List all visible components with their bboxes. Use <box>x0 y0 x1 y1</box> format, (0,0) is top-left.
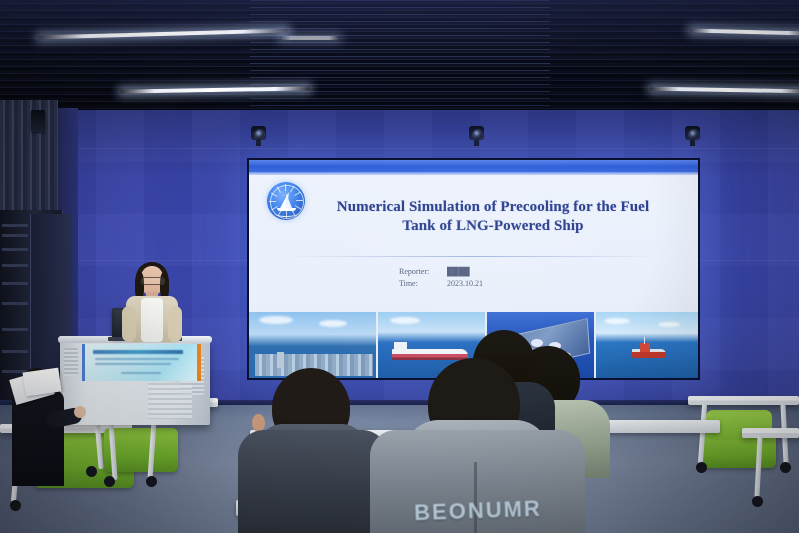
slide-time-row: Time: 2023.10.21 <box>399 278 599 290</box>
lecture-hall-scene: Numerical Simulation of Precooling for t… <box>0 0 799 533</box>
paper-sheet-2 <box>23 368 62 397</box>
lectern-lower-vent <box>148 383 192 419</box>
slide-reporter-value: ████ <box>447 266 470 278</box>
seated-attendee-holding-papers <box>8 368 78 498</box>
slide-time-label: Time: <box>399 278 439 290</box>
ceiling-speaker-center <box>468 126 485 146</box>
slide-time-value: 2023.10.21 <box>447 278 483 290</box>
slide-metadata: Reporter: ████ Time: 2023.10.21 <box>399 266 599 290</box>
slide-divider <box>287 256 661 257</box>
slide-header-band <box>249 160 698 172</box>
wall-speaker-icon <box>31 110 45 132</box>
ceiling-shading <box>0 0 799 118</box>
red-support-vessel-photo <box>596 312 698 378</box>
slide-title: Numerical Simulation of Precooling for t… <box>301 198 685 236</box>
slide-title-line-1: Numerical Simulation of Precooling for t… <box>301 198 685 217</box>
presenter-glasses-icon <box>141 277 165 285</box>
audience-member-grey-hoodie: BEONUMR <box>370 358 585 533</box>
slide-reporter-label: Reporter: <box>399 266 439 278</box>
university-emblem-sailboat-icon <box>267 182 305 220</box>
ceiling-light-strip-5 <box>280 36 340 40</box>
ceiling-speaker-right <box>684 126 701 146</box>
audience-member-dark-hoodie <box>238 368 388 533</box>
slide-header-accent <box>249 172 698 175</box>
female-presenter-at-podium <box>118 262 184 342</box>
desk-right-2[interactable] <box>742 428 799 438</box>
slide-title-line-2: Tank of LNG-Powered Ship <box>301 217 685 236</box>
ceiling-speaker-left <box>250 126 267 146</box>
lectern-banner <box>82 344 201 381</box>
slide-reporter-row: Reporter: ████ <box>399 266 599 278</box>
ceiling <box>0 0 799 118</box>
